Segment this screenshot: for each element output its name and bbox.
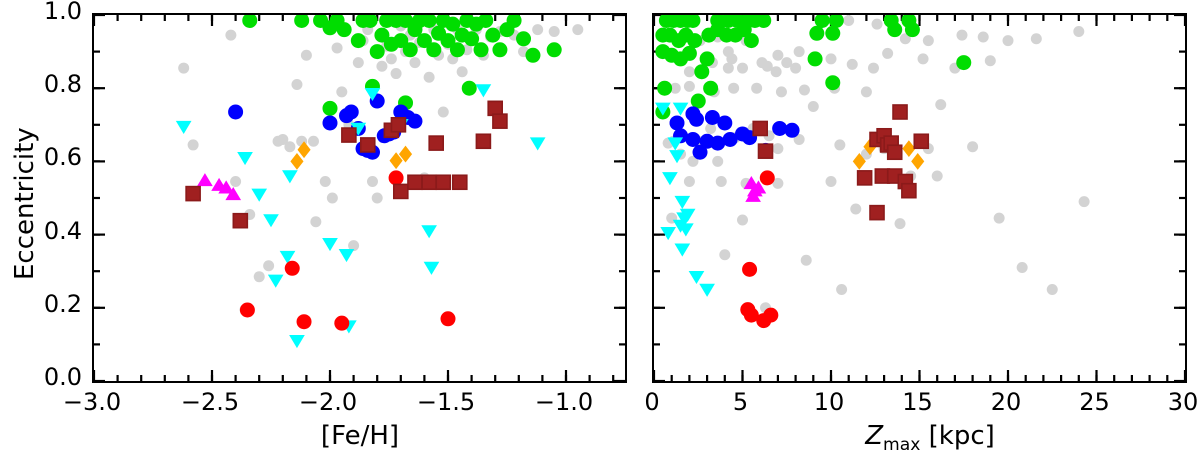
data-point-circle (826, 53, 837, 64)
y-tick-label: 0.6 (0, 143, 82, 171)
data-point-circle (694, 64, 709, 79)
series-grey-background (178, 20, 583, 315)
data-point-square (759, 144, 773, 158)
data-point-circle (516, 31, 531, 46)
data-point-circle (334, 316, 349, 331)
data-point-circle (323, 101, 338, 116)
data-point-circle (240, 302, 255, 317)
data-point-diamond (902, 140, 915, 157)
data-point-circle (572, 24, 583, 35)
data-point-circle (450, 42, 465, 57)
figure-scatter-eccentricity: Eccentricity −3.0−2.5−2.0−1.5−1.00.00.20… (0, 0, 1200, 459)
x-tick-label: −1.0 (514, 388, 614, 416)
x-tick-label: 30 (1133, 388, 1200, 416)
data-point-circle (737, 63, 748, 74)
data-point-circle (808, 51, 823, 66)
data-point-circle (391, 68, 402, 79)
data-point-square (870, 206, 884, 220)
data-point-square (493, 114, 507, 128)
x-axis-label-left: [Fe/H] (260, 421, 460, 451)
x-tick-label: 15 (868, 388, 968, 416)
data-point-circle (1017, 262, 1028, 273)
data-point-square (893, 105, 907, 119)
data-point-circle (254, 271, 265, 282)
data-point-circle (691, 94, 706, 109)
x-tick-label: 20 (956, 388, 1056, 416)
data-point-circle (834, 139, 845, 150)
data-point-circle (994, 213, 1005, 224)
data-point-circle (353, 57, 364, 68)
data-point-triangle-down (674, 196, 690, 209)
data-point-circle (872, 19, 883, 30)
data-point-circle (426, 42, 441, 57)
x-tick-label: −3.0 (42, 388, 142, 416)
data-point-triangle-down (263, 214, 279, 227)
data-point-square (914, 134, 928, 148)
y-tick-label: 0.0 (0, 363, 82, 391)
data-point-square (233, 214, 247, 228)
data-point-circle (826, 176, 837, 187)
data-point-triangle-down (176, 121, 192, 134)
data-point-circle (376, 61, 387, 72)
data-point-circle (525, 48, 540, 63)
data-point-circle (985, 55, 996, 66)
data-point-circle (760, 170, 775, 185)
data-point-circle (1073, 26, 1084, 37)
data-point-circle (1047, 284, 1058, 295)
data-point-circle (438, 106, 449, 117)
data-point-circle (308, 136, 319, 147)
y-tick-label: 0.4 (0, 217, 82, 245)
data-point-square (476, 134, 490, 148)
data-point-circle (825, 75, 840, 90)
data-point-circle (967, 141, 978, 152)
y-tick-label: 0.2 (0, 290, 82, 318)
data-point-circle (956, 30, 967, 41)
data-point-triangle-down (282, 170, 298, 183)
data-point-circle (918, 53, 929, 64)
x-tick-label: −1.5 (396, 388, 496, 416)
data-point-circle (337, 22, 352, 37)
data-point-circle (474, 42, 489, 57)
data-point-circle (847, 59, 858, 70)
kpc-unit: [kpc] (920, 421, 994, 451)
data-point-circle (684, 81, 695, 92)
data-point-circle (723, 63, 734, 74)
data-point-circle (861, 86, 872, 97)
data-point-circle (188, 139, 199, 150)
y-tick-label: 0.8 (0, 70, 82, 98)
data-point-circle (771, 66, 782, 77)
data-point-circle (178, 63, 189, 74)
data-point-square (488, 101, 502, 115)
data-point-circle (462, 81, 477, 96)
data-point-square (408, 175, 422, 189)
data-point-circle (372, 193, 383, 204)
data-point-circle (712, 156, 723, 167)
data-point-circle (843, 15, 854, 26)
data-point-square (902, 184, 916, 198)
data-point-circle (532, 24, 543, 35)
x-axis-label-right: Zmax [kpc] (820, 421, 1040, 455)
data-point-triangle-down (237, 152, 253, 165)
data-point-triangle-down (322, 238, 338, 251)
data-point-circle (284, 141, 295, 152)
data-point-circle (323, 115, 338, 130)
data-point-triangle-down (421, 225, 437, 238)
data-point-circle (836, 284, 847, 295)
data-point-circle (263, 260, 274, 271)
data-point-circle (685, 132, 700, 147)
plot-panel-right (652, 13, 1187, 383)
data-point-square (361, 138, 375, 152)
data-point-circle (801, 255, 812, 266)
data-point-square (888, 145, 902, 159)
data-point-circle (297, 314, 312, 329)
x-tick-label: 10 (779, 388, 879, 416)
data-point-circle (285, 261, 300, 276)
data-point-circle (978, 31, 989, 42)
series-grey-background (663, 15, 1090, 313)
data-point-circle (772, 50, 783, 61)
data-point-square (342, 128, 356, 142)
data-point-circle (409, 57, 420, 68)
data-point-triangle-up (197, 173, 213, 186)
data-point-circle (785, 123, 800, 138)
x-tick-label: 5 (691, 388, 791, 416)
data-point-circle (932, 171, 943, 182)
data-point-circle (719, 249, 730, 260)
data-point-circle (225, 30, 236, 41)
y-tick-label: 1.0 (0, 0, 82, 25)
data-point-circle (301, 50, 312, 61)
data-point-triangle-down (251, 189, 267, 202)
data-point-square (391, 118, 405, 132)
data-point-circle (809, 26, 824, 41)
zmax-symbol: Z (865, 421, 883, 451)
data-point-circle (424, 72, 435, 83)
data-point-circle (850, 203, 861, 214)
data-point-circle (549, 26, 560, 37)
data-point-circle (370, 44, 385, 59)
data-point-square (422, 175, 436, 189)
plot-panel-left (92, 13, 627, 383)
data-point-circle (905, 22, 920, 37)
data-point-circle (737, 214, 748, 225)
data-point-circle (744, 33, 759, 48)
data-point-diamond (290, 153, 303, 170)
data-point-circle (751, 83, 762, 94)
data-point-triangle-down (530, 137, 546, 150)
series-cyan (176, 84, 546, 348)
data-point-circle (687, 33, 702, 48)
data-point-circle (492, 42, 507, 57)
series-orange (290, 141, 412, 170)
data-point-circle (794, 46, 805, 57)
data-point-triangle-down (674, 244, 690, 257)
left-panel-data-layer (94, 15, 625, 381)
x-tick-label: −2.5 (160, 388, 260, 416)
data-point-triangle-down (289, 335, 305, 348)
data-point-circle (332, 42, 343, 53)
data-point-triangle-down (699, 284, 715, 297)
data-point-circle (684, 176, 695, 187)
data-point-circle (923, 35, 934, 46)
data-point-circle (776, 86, 787, 97)
x-tick-label: −2.0 (278, 388, 378, 416)
data-point-circle (389, 170, 404, 185)
data-point-square (186, 187, 200, 201)
data-point-circle (407, 114, 422, 129)
data-point-circle (310, 216, 321, 227)
data-point-circle (693, 145, 708, 160)
data-point-circle (689, 112, 704, 127)
data-point-circle (728, 83, 739, 94)
data-point-circle (887, 22, 902, 37)
data-point-triangle-down (339, 249, 355, 262)
data-point-circle (799, 85, 810, 96)
x-tick-label: 0 (602, 388, 702, 416)
data-point-circle (1031, 33, 1042, 44)
data-point-square (394, 184, 408, 198)
data-point-circle (242, 15, 257, 28)
data-point-circle (351, 33, 366, 48)
data-point-circle (717, 115, 732, 130)
data-point-circle (825, 26, 840, 41)
data-point-circle (868, 63, 879, 74)
zmax-subscript: max (883, 435, 920, 455)
data-point-circle (790, 63, 801, 74)
right-panel-data-layer (654, 15, 1185, 381)
data-point-triangle-down (268, 275, 284, 288)
data-point-circle (547, 42, 562, 57)
data-point-circle (336, 86, 347, 97)
data-point-circle (327, 193, 338, 204)
data-point-diamond (911, 153, 924, 170)
data-point-triangle-down (662, 172, 678, 185)
data-point-circle (294, 15, 309, 28)
data-point-circle (763, 308, 778, 323)
data-point-circle (808, 101, 819, 112)
data-point-circle (742, 262, 757, 277)
data-point-circle (228, 104, 243, 119)
data-point-circle (657, 81, 672, 96)
data-point-circle (320, 176, 331, 187)
data-point-circle (485, 28, 500, 43)
data-point-square (436, 175, 450, 189)
data-point-circle (403, 42, 418, 57)
data-point-circle (935, 99, 946, 110)
data-point-circle (684, 66, 695, 77)
data-point-triangle-down (689, 271, 705, 284)
data-point-circle (703, 81, 718, 96)
data-point-circle (230, 176, 241, 187)
data-point-circle (457, 66, 468, 77)
data-point-square (453, 175, 467, 189)
data-point-circle (291, 79, 302, 90)
data-point-circle (895, 218, 906, 229)
data-point-circle (386, 53, 397, 64)
x-tick-label: 25 (1045, 388, 1145, 416)
data-point-circle (1079, 196, 1090, 207)
data-point-circle (882, 48, 893, 59)
data-point-circle (670, 115, 685, 130)
data-point-circle (441, 311, 456, 326)
data-point-circle (344, 104, 359, 119)
data-point-triangle-down (476, 84, 492, 97)
data-point-circle (367, 176, 378, 187)
data-point-circle (682, 46, 697, 61)
data-point-square (429, 136, 443, 150)
data-point-circle (956, 55, 971, 70)
data-point-triangle-down (424, 262, 440, 275)
data-point-circle (772, 143, 783, 154)
data-point-circle (716, 176, 727, 187)
data-point-circle (700, 51, 715, 66)
data-point-circle (1003, 35, 1014, 46)
data-point-square (753, 121, 767, 135)
data-point-square (858, 171, 872, 185)
